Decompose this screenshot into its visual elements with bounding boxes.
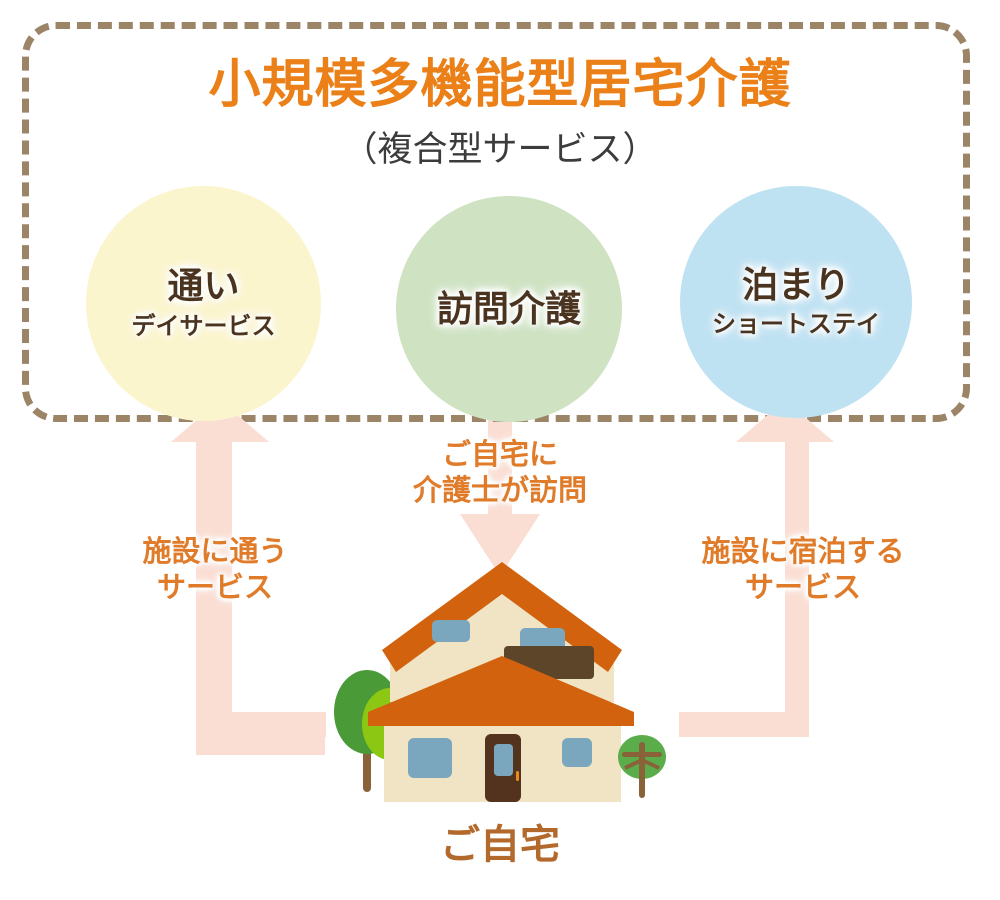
service-circle-tomari[interactable]: 泊まり ショートステイ bbox=[680, 186, 912, 418]
page-title: 小規模多機能型居宅介護 bbox=[0, 58, 1000, 113]
flow-caption-center-line2: 介護士が訪問 bbox=[340, 473, 660, 509]
service-label-houmon: 訪問介護 bbox=[437, 288, 581, 329]
flow-caption-right-line1: 施設に宿泊する bbox=[638, 534, 968, 570]
title-block: 小規模多機能型居宅介護 （複合型サービス） bbox=[0, 58, 1000, 172]
flow-caption-center: ご自宅に 介護士が訪問 bbox=[340, 437, 660, 510]
flow-caption-center-line1: ご自宅に bbox=[340, 437, 660, 473]
service-sublabel-tomari: ショートステイ bbox=[712, 311, 880, 340]
home-label: ご自宅 bbox=[0, 812, 1000, 870]
service-circle-houmon[interactable]: 訪問介護 bbox=[396, 196, 622, 422]
flow-caption-left-line2: サービス bbox=[60, 570, 370, 606]
diagram-canvas: 小規模多機能型居宅介護 （複合型サービス） 通い デイサービス 訪問介護 泊まり… bbox=[0, 0, 1000, 900]
house-illustration bbox=[322, 552, 682, 842]
flow-caption-right: 施設に宿泊する サービス bbox=[638, 534, 968, 607]
service-label-tsukai: 通い bbox=[167, 265, 239, 306]
service-circle-tsukai[interactable]: 通い デイサービス bbox=[86, 186, 321, 421]
page-subtitle: （複合型サービス） bbox=[0, 121, 1000, 172]
flow-caption-right-line2: サービス bbox=[638, 570, 968, 606]
flow-caption-left-line1: 施設に通う bbox=[60, 534, 370, 570]
service-sublabel-tsukai: デイサービス bbox=[132, 313, 276, 342]
flow-caption-left: 施設に通う サービス bbox=[60, 534, 370, 607]
service-label-tomari: 泊まり bbox=[742, 264, 850, 305]
tree-right-group bbox=[618, 735, 666, 798]
